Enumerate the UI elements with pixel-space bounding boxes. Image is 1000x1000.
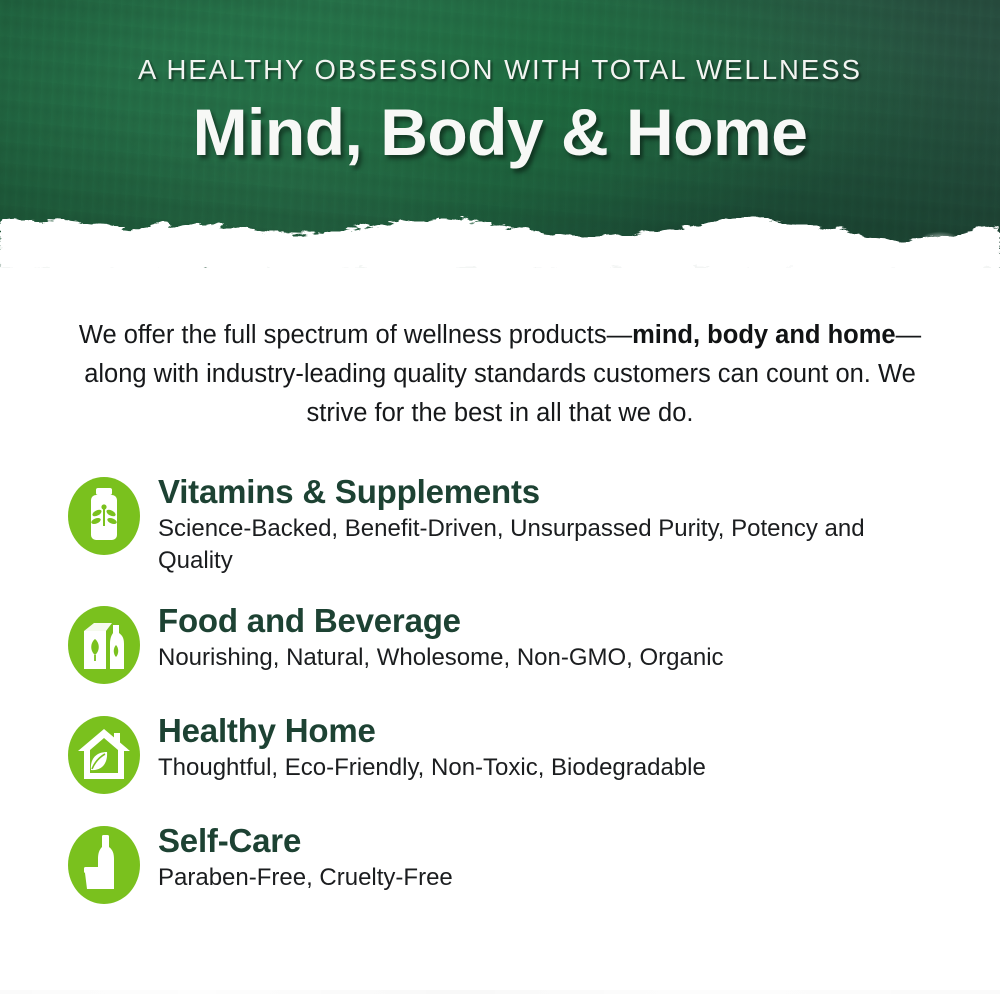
feature-description: Thoughtful, Eco-Friendly, Non-Toxic, Bio… (158, 752, 878, 784)
feature-text-block: Healthy Home Thoughtful, Eco-Friendly, N… (158, 709, 1000, 784)
feature-title: Self-Care (158, 823, 1000, 860)
feature-text-block: Self-Care Paraben-Free, Cruelty-Free (158, 819, 1000, 894)
hero-eyebrow: A HEALTHY OBSESSION WITH TOTAL WELLNESS (0, 56, 1000, 84)
torn-paper-edge (0, 192, 1000, 268)
wellness-infographic-page: A HEALTHY OBSESSION WITH TOTAL WELLNESS … (0, 0, 1000, 1000)
intro-bold-phrase: mind, body and home (632, 321, 896, 349)
list-item: Self-Care Paraben-Free, Cruelty-Free (66, 819, 1000, 907)
house-leaf-icon (66, 713, 142, 797)
feature-description: Science-Backed, Benefit-Driven, Unsurpas… (158, 513, 878, 576)
hero-text-block: A HEALTHY OBSESSION WITH TOTAL WELLNESS … (0, 56, 1000, 167)
feature-text-block: Vitamins & Supplements Science-Backed, B… (158, 470, 1000, 576)
feature-title: Food and Beverage (158, 603, 1000, 640)
list-item: Food and Beverage Nourishing, Natural, W… (66, 599, 1000, 687)
main-content: We offer the full spectrum of wellness p… (0, 268, 1000, 929)
hero-banner: A HEALTHY OBSESSION WITH TOTAL WELLNESS … (0, 0, 1000, 268)
supplement-bottle-icon (66, 474, 142, 558)
bottom-scan-artifact (0, 990, 1000, 994)
feature-description: Nourishing, Natural, Wholesome, Non-GMO,… (158, 642, 878, 674)
feature-description: Paraben-Free, Cruelty-Free (158, 862, 878, 894)
feature-title: Healthy Home (158, 713, 1000, 750)
lotion-bottle-jar-icon (66, 823, 142, 907)
list-item: Vitamins & Supplements Science-Backed, B… (66, 470, 1000, 576)
list-item: Healthy Home Thoughtful, Eco-Friendly, N… (66, 709, 1000, 797)
feature-text-block: Food and Beverage Nourishing, Natural, W… (158, 599, 1000, 674)
intro-paragraph: We offer the full spectrum of wellness p… (60, 316, 940, 432)
feature-title: Vitamins & Supplements (158, 474, 1000, 511)
torn-edge-soft-fade (0, 210, 1000, 268)
intro-part-1: We offer the full spectrum of wellness p… (79, 321, 632, 349)
feature-list: Vitamins & Supplements Science-Backed, B… (0, 470, 1000, 906)
food-carton-bottle-icon (66, 603, 142, 687)
page-title: Mind, Body & Home (0, 98, 1000, 167)
